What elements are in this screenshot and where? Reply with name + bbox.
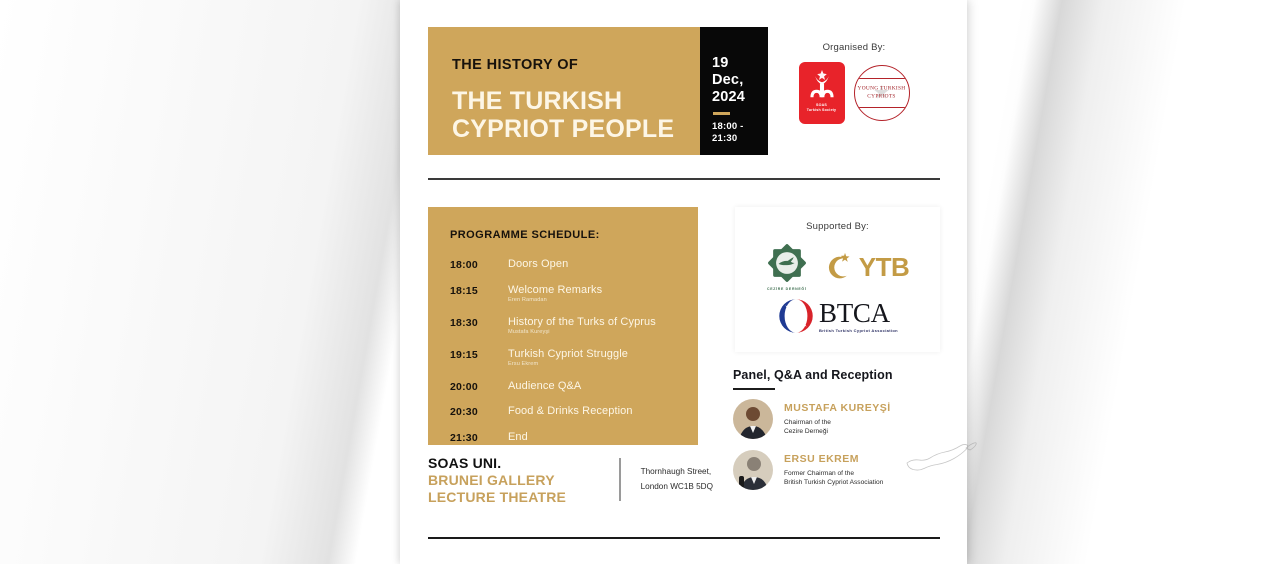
supported-by-panel: Supported By: CEZİRE DERNEĞİ xyxy=(735,207,940,352)
panel-person-role: Chairman of the Cezire Derneği xyxy=(784,418,891,437)
address-line1: Thornhaugh Street, xyxy=(641,464,713,479)
panel-person-info: MUSTAFA KUREYŞİ Chairman of the Cezire D… xyxy=(784,399,891,436)
schedule-title: PROGRAMME SCHEDULE: xyxy=(450,229,698,241)
btca-logo-text: BTCA xyxy=(819,300,898,327)
avatar xyxy=(733,399,773,439)
header-title-line2: CYPRIOT PEOPLE xyxy=(452,115,700,143)
venue-line1: SOAS UNI. xyxy=(428,455,603,472)
schedule-detail: Food & Drinks Reception xyxy=(508,405,633,418)
schedule-item-title: History of the Turks of Cyprus xyxy=(508,316,656,329)
event-date: 19 Dec, 2024 xyxy=(712,55,768,106)
ytc-logo-text: YOUNG TURKISH CYPRIOTS xyxy=(855,85,909,102)
crescent-star-icon xyxy=(824,250,854,284)
schedule-row: 21:30 End xyxy=(450,431,698,444)
poster-content: THE HISTORY OF THE TURKISH CYPRIOT PEOPL… xyxy=(428,0,940,564)
schedule-row: 18:15 Welcome Remarks Eren Ramadan xyxy=(450,284,698,304)
btca-logo: BTCA British Turkish Cypriot Association xyxy=(777,297,898,335)
venue-address: Thornhaugh Street, London WC1B 5DQ xyxy=(641,455,713,494)
schedule-item-title: Welcome Remarks xyxy=(508,284,602,297)
schedule-detail: Audience Q&A xyxy=(508,380,581,393)
btca-swoosh-icon xyxy=(777,297,815,335)
event-time-start: 18:00 - xyxy=(712,121,768,133)
btca-logo-subtext: British Turkish Cypriot Association xyxy=(819,328,898,333)
btca-text-block: BTCA British Turkish Cypriot Association xyxy=(819,300,898,333)
ytb-logo: YTB xyxy=(824,250,910,284)
person-photo-icon xyxy=(733,399,773,439)
schedule-detail: End xyxy=(508,431,528,444)
schedule-time: 20:00 xyxy=(450,380,508,393)
schedule-detail: Doors Open xyxy=(508,258,568,271)
soas-logo-text: SOAS Turkish Society xyxy=(807,103,837,114)
schedule-row: 20:00 Audience Q&A xyxy=(450,380,698,393)
poster-header: THE HISTORY OF THE TURKISH CYPRIOT PEOPL… xyxy=(428,27,940,155)
schedule-time: 18:30 xyxy=(450,316,508,329)
schedule-row: 19:15 Turkish Cypriot Struggle Ersu Ekre… xyxy=(450,348,698,368)
schedule-item-title: End xyxy=(508,431,528,444)
venue-divider xyxy=(619,458,621,501)
soas-logo-line2: Turkish Society xyxy=(807,108,837,113)
cezire-octagram-icon xyxy=(766,242,808,284)
venue-line2: BRUNEI GALLERY xyxy=(428,472,603,489)
schedule-item-title: Turkish Cypriot Struggle xyxy=(508,348,628,361)
schedule-item-title: Food & Drinks Reception xyxy=(508,405,633,418)
schedule-row: 20:30 Food & Drinks Reception xyxy=(450,405,698,418)
ytb-logo-text: YTB xyxy=(859,254,910,280)
schedule-item-title: Doors Open xyxy=(508,258,568,271)
event-date-day: 19 xyxy=(712,55,768,72)
schedule-item-speaker: Mustafa Kureyşi xyxy=(508,329,656,335)
venue-footer: SOAS UNI. BRUNEI GALLERY LECTURE THEATRE… xyxy=(428,455,940,505)
header-title: THE TURKISH CYPRIOT PEOPLE xyxy=(452,87,700,144)
soas-turkish-society-logo: SOAS Turkish Society xyxy=(799,62,845,124)
organised-by-block: Organised By: SOAS Turkis xyxy=(768,27,940,155)
schedule-time: 21:30 xyxy=(450,431,508,444)
schedule-time: 18:15 xyxy=(450,284,508,297)
panel-person: MUSTAFA KUREYŞİ Chairman of the Cezire D… xyxy=(733,399,940,439)
schedule-row: 18:30 History of the Turks of Cyprus Mus… xyxy=(450,316,698,336)
panel-divider xyxy=(733,388,775,390)
supporter-logos-row-1: CEZİRE DERNEĞİ YTB xyxy=(766,242,910,291)
divider-bottom xyxy=(428,537,940,539)
panel-person-role-line1: Chairman of the xyxy=(784,418,891,427)
event-time: 18:00 - 21:30 xyxy=(712,121,768,145)
schedule-row: 18:00 Doors Open xyxy=(450,258,698,271)
soas-emblem-icon xyxy=(805,67,839,103)
divider-top xyxy=(428,178,940,180)
young-turkish-cypriots-logo: ★ YOUNG TURKISH CYPRIOTS xyxy=(854,65,910,121)
schedule-time: 19:15 xyxy=(450,348,508,361)
panel-person-name: MUSTAFA KUREYŞİ xyxy=(784,402,891,415)
address-line2: London WC1B 5DQ xyxy=(641,479,713,494)
header-kicker: THE HISTORY OF xyxy=(452,58,700,74)
ytc-bar-bottom xyxy=(855,107,909,108)
ytc-bar-top xyxy=(855,78,909,79)
schedule-detail: Welcome Remarks Eren Ramadan xyxy=(508,284,602,304)
schedule-item-speaker: Ersu Ekrem xyxy=(508,361,628,367)
event-date-month: Dec, xyxy=(712,72,768,89)
schedule-detail: History of the Turks of Cyprus Mustafa K… xyxy=(508,316,656,336)
header-title-block: THE HISTORY OF THE TURKISH CYPRIOT PEOPL… xyxy=(428,27,700,155)
panel-heading: Panel, Q&A and Reception xyxy=(733,368,940,382)
header-date-block: 19 Dec, 2024 18:00 - 21:30 xyxy=(700,27,768,155)
cezire-logo-text: CEZİRE DERNEĞİ xyxy=(767,287,807,291)
event-date-year: 2024 xyxy=(712,89,768,106)
schedule-item-title: Audience Q&A xyxy=(508,380,581,393)
schedule-time: 20:30 xyxy=(450,405,508,418)
organiser-logos: SOAS Turkish Society ★ YOUNG TURKISH CYP… xyxy=(799,62,910,124)
schedule-detail: Turkish Cypriot Struggle Ersu Ekrem xyxy=(508,348,628,368)
programme-schedule: PROGRAMME SCHEDULE: 18:00 Doors Open 18:… xyxy=(428,207,698,445)
supported-by-label: Supported By: xyxy=(806,221,869,232)
event-time-end: 21:30 xyxy=(712,133,768,145)
venue-block: SOAS UNI. BRUNEI GALLERY LECTURE THEATRE xyxy=(428,455,603,505)
header-title-line1: THE TURKISH xyxy=(452,87,700,115)
schedule-time: 18:00 xyxy=(450,258,508,271)
poster-page: THE HISTORY OF THE TURKISH CYPRIOT PEOPL… xyxy=(400,0,967,564)
schedule-item-speaker: Eren Ramadan xyxy=(508,297,602,303)
date-divider xyxy=(713,112,730,115)
cezire-dernegi-logo: CEZİRE DERNEĞİ xyxy=(766,242,808,291)
venue-line3: LECTURE THEATRE xyxy=(428,489,603,506)
organised-by-label: Organised By: xyxy=(823,42,886,53)
panel-person-role-line2: Cezire Derneği xyxy=(784,427,891,436)
